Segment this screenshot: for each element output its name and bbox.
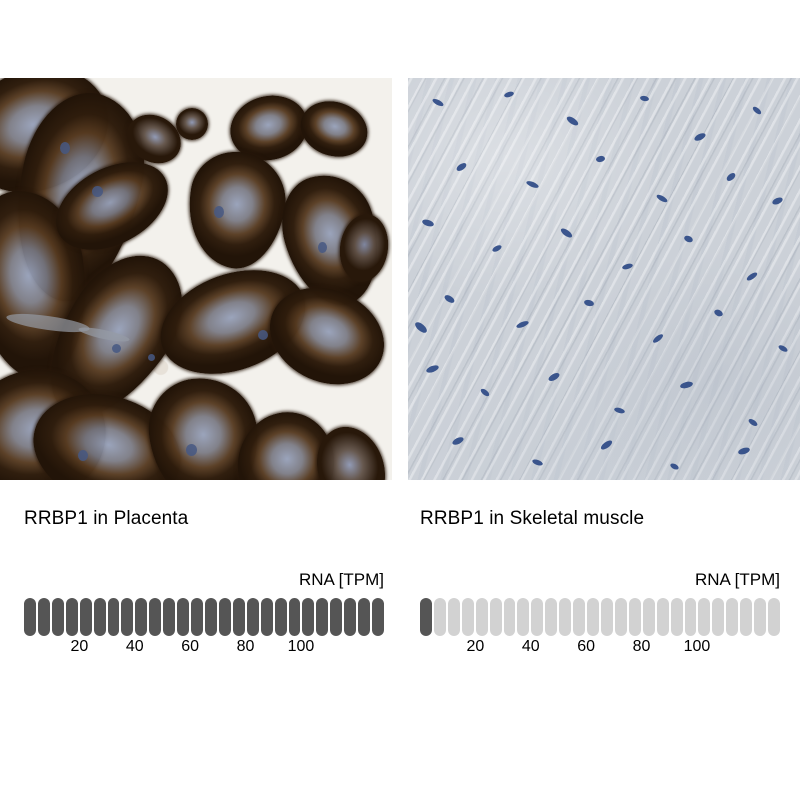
rna-segment	[219, 598, 231, 636]
muscle-tone-variation	[408, 78, 800, 480]
rna-segment	[768, 598, 780, 636]
rna-segment	[289, 598, 301, 636]
rna-segment	[233, 598, 245, 636]
rna-segment	[261, 598, 273, 636]
rna-segment-track[interactable]	[420, 598, 780, 636]
rna-tick-80: 80	[237, 638, 255, 656]
rna-segment	[698, 598, 710, 636]
rna-segment	[671, 598, 683, 636]
rna-tick-100: 100	[288, 638, 315, 656]
rna-segment	[685, 598, 697, 636]
rna-segment	[559, 598, 571, 636]
rna-segment	[24, 598, 36, 636]
rna-segment	[504, 598, 516, 636]
rna-segment	[587, 598, 599, 636]
hpa-tissue-comparison-figure: RRBP1 in Placenta RRBP1 in Skeletal musc…	[0, 0, 800, 800]
rna-segment	[615, 598, 627, 636]
rna-segment	[545, 598, 557, 636]
rna-segment	[629, 598, 641, 636]
rna-gauge-placenta: RNA [TPM] 20406080100	[24, 570, 384, 660]
rna-tick-60: 60	[577, 638, 595, 656]
rna-segment	[448, 598, 460, 636]
rna-segment	[740, 598, 752, 636]
placenta-tissue-image	[0, 78, 392, 480]
rna-segment	[316, 598, 328, 636]
rna-segment	[302, 598, 314, 636]
rna-segment	[712, 598, 724, 636]
rna-segment	[372, 598, 384, 636]
rna-tick-20: 20	[70, 638, 88, 656]
rna-segment	[490, 598, 502, 636]
rna-tick-100: 100	[684, 638, 711, 656]
rna-segment	[476, 598, 488, 636]
rna-axis-label: RNA [TPM]	[299, 570, 384, 590]
rna-segment	[177, 598, 189, 636]
rna-gauge-skeletal-muscle: RNA [TPM] 20406080100	[420, 570, 780, 660]
rna-segment	[275, 598, 287, 636]
rna-segment	[657, 598, 669, 636]
rna-segment	[531, 598, 543, 636]
rna-segment	[726, 598, 738, 636]
rna-tick-40: 40	[126, 638, 144, 656]
rna-segment	[517, 598, 529, 636]
rna-segment-track[interactable]	[24, 598, 384, 636]
rna-axis-label: RNA [TPM]	[695, 570, 780, 590]
rna-segment	[462, 598, 474, 636]
rna-segment	[643, 598, 655, 636]
rna-segment	[754, 598, 766, 636]
rna-segment	[80, 598, 92, 636]
page-title-placenta: RRBP1 in Placenta	[24, 508, 188, 530]
rna-segment	[135, 598, 147, 636]
rna-tick-60: 60	[181, 638, 199, 656]
micrograph-row	[0, 78, 800, 480]
rna-segment	[330, 598, 342, 636]
rna-segment	[121, 598, 133, 636]
rna-segment	[344, 598, 356, 636]
rna-segment	[205, 598, 217, 636]
rna-tick-80: 80	[633, 638, 651, 656]
rna-segment	[420, 598, 432, 636]
rna-segment	[108, 598, 120, 636]
rna-tick-labels: 20406080100	[420, 638, 780, 660]
skeletal-muscle-tissue-image	[408, 78, 800, 480]
rna-tick-20: 20	[466, 638, 484, 656]
rna-segment	[94, 598, 106, 636]
micrograph-placenta[interactable]	[0, 78, 392, 480]
page-title-skeletal-muscle: RRBP1 in Skeletal muscle	[420, 508, 644, 530]
micrograph-skeletal-muscle[interactable]	[408, 78, 800, 480]
rna-segment	[52, 598, 64, 636]
rna-segment	[601, 598, 613, 636]
rna-segment	[163, 598, 175, 636]
rna-segment	[66, 598, 78, 636]
rna-segment	[434, 598, 446, 636]
rna-segment	[149, 598, 161, 636]
rna-segment	[191, 598, 203, 636]
rna-segment	[247, 598, 259, 636]
rna-tick-40: 40	[522, 638, 540, 656]
rna-segment	[573, 598, 585, 636]
rna-tick-labels: 20406080100	[24, 638, 384, 660]
rna-segment	[358, 598, 370, 636]
rna-segment	[38, 598, 50, 636]
